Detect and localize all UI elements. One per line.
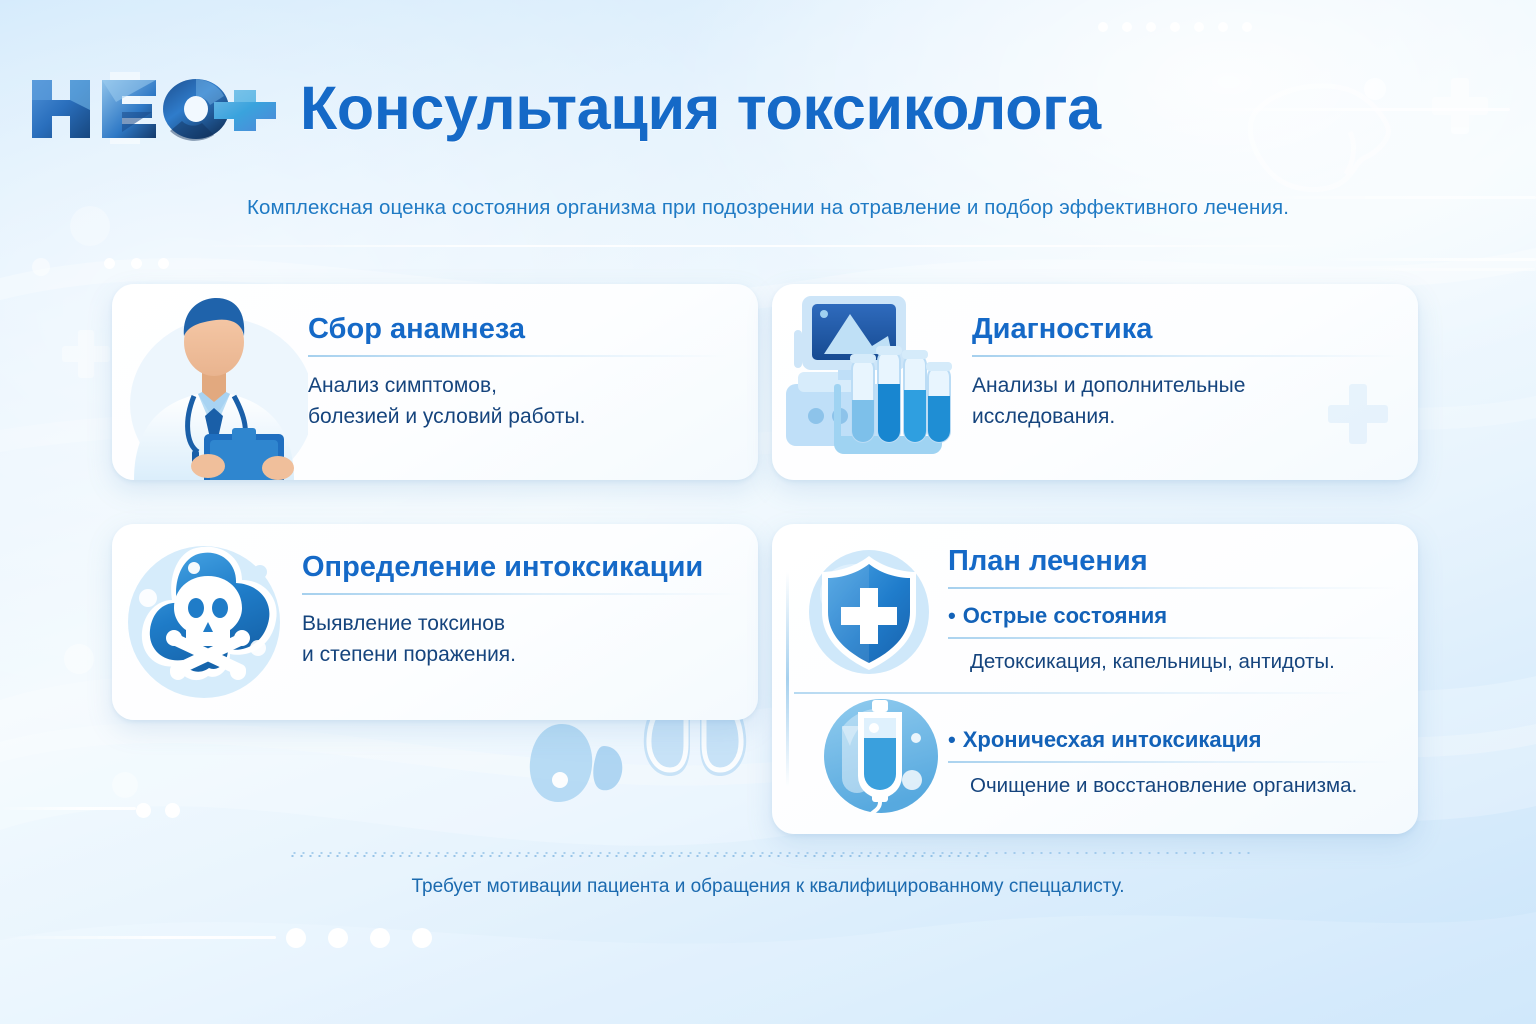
subitem-heading-text: Хроничесхая интоксикация bbox=[963, 727, 1262, 752]
subitem-divider bbox=[948, 761, 1396, 763]
card-title: Определение интоксикации bbox=[302, 550, 742, 584]
dot-row-decoration bbox=[136, 803, 180, 818]
circle-decoration bbox=[32, 258, 50, 276]
plus-cross-icon bbox=[62, 330, 110, 378]
subitem-text: Детоксикация, капельницы, антидоты. bbox=[948, 648, 1396, 676]
card-divider bbox=[308, 355, 728, 357]
card-plan-lecheniya[interactable]: План лечения •Острые состояния Детоксика… bbox=[772, 524, 1418, 834]
iv-drip-icon bbox=[820, 694, 942, 820]
card-text-line1: Анализы и дополнительные bbox=[972, 370, 1402, 401]
lab-testtubes-icon bbox=[772, 284, 972, 480]
card-text-line2: болезией и условий работы. bbox=[308, 401, 728, 432]
accent-line-decoration bbox=[0, 936, 276, 939]
subitem-heading: •Хроничесхая интоксикация bbox=[948, 726, 1396, 754]
header-divider bbox=[180, 245, 1360, 247]
dashed-line-decoration bbox=[288, 855, 988, 857]
page-header: Консультация токсиколога bbox=[0, 0, 1536, 182]
subitem-ostrye-sostoyaniya[interactable]: •Острые состояния Детоксикация, капельни… bbox=[948, 602, 1396, 676]
subitem-hronicheskaya-intoksikaciya[interactable]: •Хроничесхая интоксикация Очищение и вос… bbox=[948, 726, 1396, 800]
subitem-text: Очищение и восстановление организма. bbox=[948, 772, 1396, 800]
footer-divider bbox=[290, 852, 1250, 854]
card-divider bbox=[948, 587, 1396, 589]
card-opredelenie-intoksikacii[interactable]: Определение интоксикации Выявление токси… bbox=[112, 524, 758, 720]
bullet-icon: • bbox=[948, 603, 956, 628]
card-diagnostika[interactable]: Диагностика Анализы и дополнительные исс… bbox=[772, 284, 1418, 480]
infographic-poster: Консультация токсиколога Комплексная оце… bbox=[0, 0, 1536, 1024]
doctor-clipboard-icon bbox=[112, 284, 308, 480]
card-text-line1: Анализ симптомов, bbox=[308, 370, 728, 401]
card-title: План лечения bbox=[948, 544, 1396, 578]
circle-decoration bbox=[112, 772, 138, 798]
subitem-divider bbox=[948, 637, 1396, 639]
page-title: Консультация токсиколога bbox=[300, 72, 1101, 144]
subitem-heading: •Острые состояния bbox=[948, 602, 1396, 630]
card-text-line1: Выявление токсинов bbox=[302, 608, 742, 639]
dot-row-decoration bbox=[286, 928, 432, 948]
subitem-heading-text: Острые состояния bbox=[963, 603, 1167, 628]
card-title: Диагностика bbox=[972, 312, 1402, 346]
card-sbor-anamneza[interactable]: Сбор анамнеза Анализ симптомов, болезией… bbox=[112, 284, 758, 480]
skull-poison-icon bbox=[112, 524, 302, 720]
circle-decoration bbox=[64, 644, 94, 674]
accent-line-decoration bbox=[0, 807, 136, 810]
card-text-line2: и степени поражения. bbox=[302, 639, 742, 670]
card-text-line2: исследования. bbox=[972, 401, 1402, 432]
card-divider bbox=[972, 355, 1402, 357]
footer-note: Требует мотивации пациента и обращения к… bbox=[0, 876, 1536, 898]
dot-row-decoration bbox=[104, 258, 169, 269]
card-accent-bar bbox=[786, 572, 789, 786]
kidney-icon bbox=[524, 718, 644, 808]
card-divider bbox=[302, 593, 742, 595]
shield-cross-icon bbox=[804, 546, 934, 678]
card-title: Сбор анамнеза bbox=[308, 312, 728, 346]
bullet-icon: • bbox=[948, 727, 956, 752]
page-subtitle: Комплексная оценка состояния организма п… bbox=[0, 196, 1536, 220]
brand-logo bbox=[28, 72, 278, 144]
card-section-divider bbox=[794, 692, 1364, 694]
accent-line-decoration bbox=[1312, 258, 1536, 261]
accent-line-decoration bbox=[1316, 268, 1536, 271]
